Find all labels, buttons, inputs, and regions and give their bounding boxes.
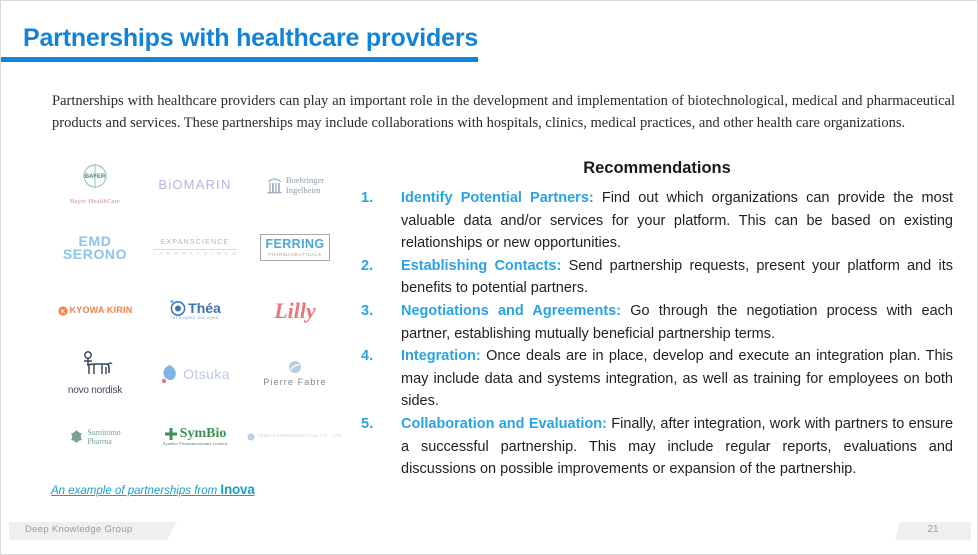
- sumitomo-wordmark-line1: Sumitomo: [87, 428, 120, 437]
- novo-nordisk-wordmark: novo nordisk: [68, 386, 122, 396]
- partner-logos-panel: BAYER Bayer HealthCare BiOMARIN: [45, 153, 345, 497]
- bayer-wordmark: Bayer HealthCare: [70, 199, 120, 206]
- logo-source-caption[interactable]: An example of partnerships from Inova: [51, 482, 345, 497]
- kyowa-kirin-wordmark: KYOWA KIRIN: [70, 306, 133, 315]
- logo-caption-prefix: An example of partnerships from: [51, 485, 220, 497]
- symbio-wordmark: SymBio: [180, 427, 227, 441]
- recommendation-title: Collaboration and Evaluation:: [401, 416, 607, 432]
- recommendation-item: 1. Identify Potential Partners: Find out…: [361, 187, 953, 255]
- recommendation-body: Establishing Contacts: Send partnership …: [401, 255, 953, 300]
- partner-logo-pierre-fabre: Pierre Fabre: [247, 345, 343, 403]
- ferring-subtitle: PHARMACEUTICALS: [265, 252, 324, 257]
- recommendation-item: 5. Collaboration and Evaluation: Finally…: [361, 413, 953, 481]
- partner-logo-expanscience: EXPANSCIENCE L A B O R A T O I R E S: [147, 219, 243, 277]
- ferring-wordmark: FERRING: [265, 237, 324, 251]
- recommendation-title: Identify Potential Partners:: [401, 190, 594, 206]
- svg-text:BAYER: BAYER: [85, 174, 106, 180]
- towa-wordmark: TOWA PHARMACEUTICAL CO., LTD.: [257, 434, 343, 438]
- pierre-fabre-mark-icon: [288, 360, 302, 374]
- otsuka-leaf-icon: [160, 363, 180, 385]
- serono-wordmark: SERONO: [63, 248, 127, 261]
- kyowa-kirin-mark-icon: K: [58, 306, 68, 316]
- footer-page-number: 21: [895, 524, 971, 535]
- recommendation-number: 4.: [361, 345, 401, 368]
- logo-caption-brand: Inova: [220, 482, 254, 497]
- recommendations-list: 1. Identify Potential Partners: Find out…: [361, 187, 953, 481]
- partner-logo-kyowa-kirin: K KYOWA KIRIN: [47, 282, 143, 340]
- recommendation-text: Once deals are in place, develop and exe…: [401, 348, 953, 409]
- recommendation-number: 3.: [361, 300, 401, 323]
- recommendations-heading: Recommendations: [361, 159, 953, 178]
- boehringer-wordmark-line2: Ingelheim: [286, 185, 324, 195]
- recommendation-body: Collaboration and Evaluation: Finally, a…: [401, 413, 953, 481]
- biomarin-wordmark: BiOMARIN: [158, 177, 231, 192]
- partner-logo-ferring: FERRING PHARMACEUTICALS: [247, 219, 343, 277]
- recommendation-title: Establishing Contacts:: [401, 258, 561, 274]
- thea-wordmark: Théa: [188, 301, 221, 315]
- pierre-fabre-wordmark: Pierre Fabre: [263, 378, 326, 387]
- intro-paragraph: Partnerships with healthcare providers c…: [52, 90, 955, 134]
- otsuka-wordmark: Otsuka: [183, 367, 230, 381]
- novo-nordisk-apis-bull-icon: [75, 351, 115, 381]
- bayer-cross-icon: BAYER: [77, 163, 113, 193]
- boehringer-apothecary-icon: [266, 175, 283, 195]
- towa-mark-icon: [247, 433, 255, 441]
- partner-logo-boehringer-ingelheim: Boehringer Ingelheim: [247, 156, 343, 214]
- thea-tagline: let's open our eyes: [169, 317, 221, 322]
- partner-logo-biomarin: BiOMARIN: [147, 156, 243, 214]
- symbio-subtitle: SymBio Pharmaceuticals Limited: [163, 442, 227, 446]
- partner-logo-towa-pharmaceutical: TOWA PHARMACEUTICAL CO., LTD.: [247, 408, 343, 466]
- partner-logo-symbio: SymBio SymBio Pharmaceuticals Limited: [147, 408, 243, 466]
- symbio-cross-icon: [164, 427, 178, 441]
- recommendation-number: 1.: [361, 187, 401, 210]
- sumitomo-flower-icon: [69, 429, 84, 444]
- partner-logo-emd-serono: EMD SERONO: [47, 219, 143, 277]
- thea-eye-icon: [169, 299, 186, 316]
- recommendation-item: 2. Establishing Contacts: Send partnersh…: [361, 255, 953, 300]
- expanscience-wordmark: EXPANSCIENCE: [153, 239, 237, 246]
- recommendation-number: 2.: [361, 255, 401, 278]
- expanscience-subtitle: L A B O R A T O I R E S: [153, 249, 237, 257]
- recommendation-body: Identify Potential Partners: Find out wh…: [401, 187, 953, 255]
- recommendation-title: Negotiations and Agreements:: [401, 303, 621, 319]
- recommendations-panel: Recommendations 1. Identify Potential Pa…: [361, 159, 953, 481]
- sumitomo-wordmark-line2: Pharma: [87, 437, 120, 446]
- partner-logo-lilly: Lilly: [247, 282, 343, 340]
- partner-logo-sumitomo-pharma: Sumitomo Pharma: [47, 408, 143, 466]
- footer-organization: Deep Knowledge Group: [25, 524, 132, 535]
- title-underline-rule: [1, 57, 478, 62]
- partner-logo-thea: Théa let's open our eyes: [147, 282, 243, 340]
- slide-canvas: Partnerships with healthcare providers P…: [0, 0, 978, 555]
- boehringer-wordmark-line1: Boehringer: [286, 175, 324, 185]
- recommendation-item: 4. Integration: Once deals are in place,…: [361, 345, 953, 413]
- partner-logo-otsuka: Otsuka: [147, 345, 243, 403]
- recommendation-body: Negotiations and Agreements: Go through …: [401, 300, 953, 345]
- svg-text:K: K: [60, 309, 65, 315]
- partner-logo-grid: BAYER Bayer HealthCare BiOMARIN: [45, 153, 345, 468]
- recommendation-title: Integration:: [401, 348, 481, 364]
- recommendation-body: Integration: Once deals are in place, de…: [401, 345, 953, 413]
- title-block: Partnerships with healthcare providers: [1, 25, 978, 62]
- recommendation-item: 3. Negotiations and Agreements: Go throu…: [361, 300, 953, 345]
- recommendation-number: 5.: [361, 413, 401, 436]
- page-title: Partnerships with healthcare providers: [23, 25, 978, 53]
- lilly-wordmark: Lilly: [274, 298, 316, 324]
- partner-logo-bayer: BAYER Bayer HealthCare: [47, 156, 143, 214]
- partner-logo-novo-nordisk: novo nordisk: [47, 345, 143, 403]
